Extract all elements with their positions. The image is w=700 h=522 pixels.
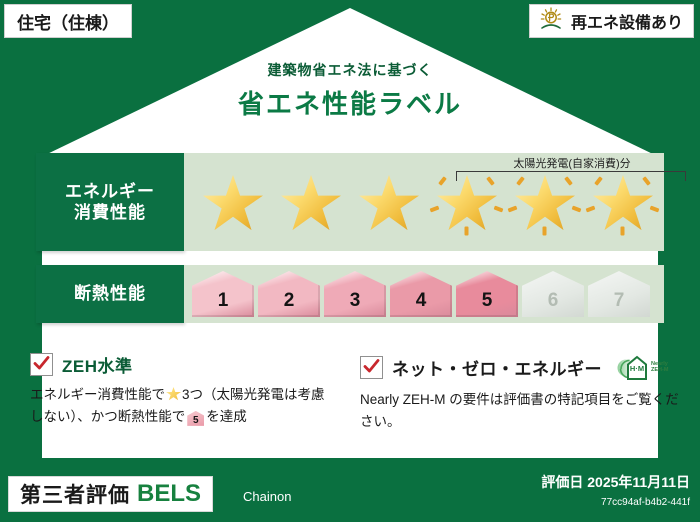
star-icon bbox=[515, 175, 575, 233]
star-sparkle-icon bbox=[430, 206, 440, 213]
net-zero-energy-body: Nearly ZEH-M の要件は評価書の特記項目をご覧ください。 bbox=[360, 389, 680, 433]
zeh-standard-header: ZEH水準 bbox=[30, 352, 330, 377]
star-6 bbox=[584, 163, 662, 241]
star-icon bbox=[437, 175, 497, 233]
star-sparkle-icon bbox=[586, 206, 596, 213]
energy-performance-row: エネルギー 消費性能 太陽光発電(自家消費)分 bbox=[36, 153, 664, 251]
net-zero-energy-header: ネット・ゼロ・エネルギー H·M Nearly bbox=[360, 352, 680, 382]
star-icon bbox=[281, 175, 341, 233]
evaluation-date: 評価日 2025年11月11日 bbox=[541, 472, 690, 492]
grade-badge-value: 3 bbox=[350, 290, 361, 312]
star-icon bbox=[593, 175, 653, 233]
star-sparkle-icon bbox=[494, 206, 504, 213]
star-sparkle-icon bbox=[564, 176, 573, 186]
zeh-standard-title: ZEH水準 bbox=[62, 352, 133, 377]
star-icon bbox=[203, 175, 263, 233]
dwelling-type-tag: 住宅（住棟） bbox=[4, 4, 132, 38]
star-sparkle-icon bbox=[486, 176, 495, 186]
title-block: 建築物省エネ法に基づく 省エネ性能ラベル bbox=[0, 60, 700, 121]
insulation-grade-2: 2 bbox=[258, 271, 320, 317]
grade-badge-value: 7 bbox=[614, 290, 625, 312]
dwelling-type-label: 住宅（住棟） bbox=[17, 9, 119, 34]
zeh-m-caption: Nearly ZEH-M bbox=[651, 361, 668, 374]
star-1 bbox=[194, 163, 272, 241]
insulation-performance-label: 断熱性能 bbox=[36, 265, 184, 323]
inline-star-icon bbox=[166, 387, 181, 401]
star-5 bbox=[506, 163, 584, 241]
zeh-standard-block: ZEH水準 エネルギー消費性能で3つ（太陽光発電は考慮しない）、かつ断熱性能で5… bbox=[30, 352, 330, 428]
star-2 bbox=[272, 163, 350, 241]
insulation-grade-7: 7 bbox=[588, 271, 650, 317]
insulation-performance-row: 断熱性能 1234567 bbox=[36, 265, 664, 323]
star-sparkle-icon bbox=[642, 176, 651, 186]
insulation-grade-1: 1 bbox=[192, 271, 254, 317]
insulation-grade-4: 4 bbox=[390, 271, 452, 317]
page-title: 省エネ性能ラベル bbox=[0, 84, 700, 121]
inline-grade-badge: 5 bbox=[187, 411, 204, 426]
grade-badge-value: 4 bbox=[416, 290, 427, 312]
insulation-grade-3: 3 bbox=[324, 271, 386, 317]
bels-energy-label: 住宅（住棟） 再エネ設備あり 建築物省エネ法に基づく bbox=[0, 0, 700, 522]
star-sparkle-icon bbox=[621, 227, 625, 236]
bels-wordmark: BELS bbox=[137, 480, 201, 508]
title-subtitle: 建築物省エネ法に基づく bbox=[0, 60, 700, 80]
building-name: Chainon bbox=[243, 489, 291, 504]
zeh-m-house-icon: H·M bbox=[615, 352, 649, 382]
zeh-m-logo: H·M Nearly ZEH-M bbox=[615, 352, 668, 382]
insulation-performance-body: 1234567 bbox=[184, 265, 664, 323]
star-sparkle-icon bbox=[516, 176, 525, 186]
insulation-grade-6: 6 bbox=[522, 271, 584, 317]
star-sparkle-icon bbox=[594, 176, 603, 186]
bels-third-party-box: 第三者評価 BELS bbox=[8, 476, 213, 512]
third-party-label: 第三者評価 bbox=[20, 479, 130, 509]
star-4 bbox=[428, 163, 506, 241]
grade-badge-value: 6 bbox=[548, 290, 559, 312]
checkbox-checked-icon bbox=[30, 353, 53, 376]
star-sparkle-icon bbox=[650, 206, 660, 213]
evaluation-id: 77cc94af-b4b2-441f bbox=[601, 497, 690, 508]
star-sparkle-icon bbox=[508, 206, 518, 213]
zeh-standard-body: エネルギー消費性能で3つ（太陽光発電は考慮しない）、かつ断熱性能で5を達成 bbox=[30, 384, 330, 428]
energy-performance-body: 太陽光発電(自家消費)分 bbox=[184, 153, 664, 251]
renewable-equipment-label: 再エネ設備あり bbox=[571, 9, 683, 33]
energy-performance-label: エネルギー 消費性能 bbox=[36, 153, 184, 251]
net-zero-energy-block: ネット・ゼロ・エネルギー H·M Nearly bbox=[360, 352, 680, 433]
grade-badge-value: 1 bbox=[218, 290, 229, 312]
star-sparkle-icon bbox=[465, 227, 469, 236]
star-sparkle-icon bbox=[543, 227, 547, 236]
star-sparkle-icon bbox=[438, 176, 447, 186]
svg-text:H·M: H·M bbox=[630, 364, 644, 373]
sun-renewable-icon bbox=[538, 7, 564, 36]
net-zero-energy-title: ネット・ゼロ・エネルギー bbox=[392, 355, 602, 380]
insulation-grade-5: 5 bbox=[456, 271, 518, 317]
star-rating bbox=[184, 153, 664, 251]
star-icon bbox=[359, 175, 419, 233]
insulation-grade-scale: 1234567 bbox=[184, 265, 664, 323]
grade-badge-value: 2 bbox=[284, 290, 295, 312]
grade-badge-value: 5 bbox=[482, 290, 493, 312]
star-sparkle-icon bbox=[572, 206, 582, 213]
renewable-equipment-tag: 再エネ設備あり bbox=[529, 4, 694, 38]
star-3 bbox=[350, 163, 428, 241]
checkbox-checked-icon bbox=[360, 356, 383, 379]
